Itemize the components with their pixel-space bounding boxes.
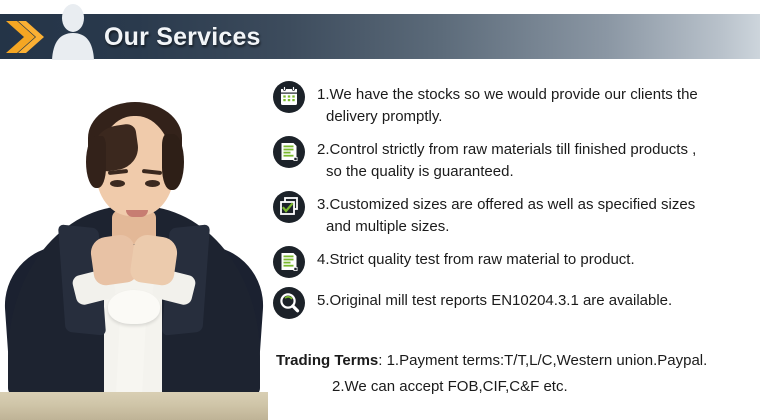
list-item-line1: 3.Customized sizes are offered as well a… <box>317 196 695 213</box>
list-item: 4.Strict quality test from raw material … <box>272 245 760 279</box>
list-item-text: 3.Customized sizes are offered as well a… <box>317 190 695 238</box>
list-item-text: 2.Control strictly from raw materials ti… <box>317 135 696 183</box>
list-item-line1: 5.Original mill test reports EN10204.3.1… <box>317 292 672 309</box>
trading-terms: Trading Terms: 1.Payment terms:T/T,L/C,W… <box>276 348 756 400</box>
photo-eye-left <box>110 180 125 187</box>
list-item-line1: 1.We have the stocks so we would provide… <box>317 86 698 103</box>
list-item-line1: 4.Strict quality test from raw material … <box>317 251 635 268</box>
list-item: 3.Customized sizes are offered as well a… <box>272 190 760 238</box>
photo-hair-side-left <box>86 136 106 188</box>
list-item-text: 4.Strict quality test from raw material … <box>317 245 635 271</box>
magnifier-icon <box>272 286 306 320</box>
services-content: 1.We have the stocks so we would provide… <box>268 62 760 420</box>
list-item-text: 5.Original mill test reports EN10204.3.1… <box>317 286 672 312</box>
photo-scarf-tail <box>116 317 146 396</box>
photo-eye-right <box>145 180 160 187</box>
photo-hand-right <box>129 233 179 287</box>
services-list: 1.We have the stocks so we would provide… <box>272 80 760 327</box>
document-lines-icon <box>272 245 306 279</box>
photo-desk <box>0 392 268 420</box>
calendar-icon <box>272 80 306 114</box>
list-item: 5.Original mill test reports EN10204.3.1… <box>272 286 760 320</box>
trading-terms-line2: 2.We can accept FOB,CIF,C&F etc. <box>276 374 756 400</box>
list-item-text: 1.We have the stocks so we would provide… <box>317 80 698 128</box>
list-item: 2.Control strictly from raw materials ti… <box>272 135 760 183</box>
page-title: Our Services <box>104 18 261 56</box>
chevron-double-right-icon <box>4 18 50 56</box>
checked-window-icon <box>272 190 306 224</box>
photo-scarf-knot <box>108 290 160 324</box>
person-silhouette-icon <box>50 2 96 60</box>
document-lines-icon <box>272 135 306 169</box>
photo-hair-side-right <box>162 134 184 190</box>
photo-mouth <box>126 210 148 217</box>
list-item-line1: 2.Control strictly from raw materials ti… <box>317 141 696 158</box>
header-banner: Our Services <box>0 0 760 62</box>
list-item-line2: delivery promptly. <box>317 106 698 128</box>
list-item: 1.We have the stocks so we would provide… <box>272 80 760 128</box>
businesswoman-photo <box>0 62 268 420</box>
trading-terms-label: Trading Terms <box>276 352 378 369</box>
list-item-line2: so the quality is guaranteed. <box>317 161 696 183</box>
list-item-line2: and multiple sizes. <box>317 216 695 238</box>
trading-terms-separator: : <box>378 352 386 369</box>
trading-terms-line1: 1.Payment terms:T/T,L/C,Western union.Pa… <box>387 352 708 369</box>
